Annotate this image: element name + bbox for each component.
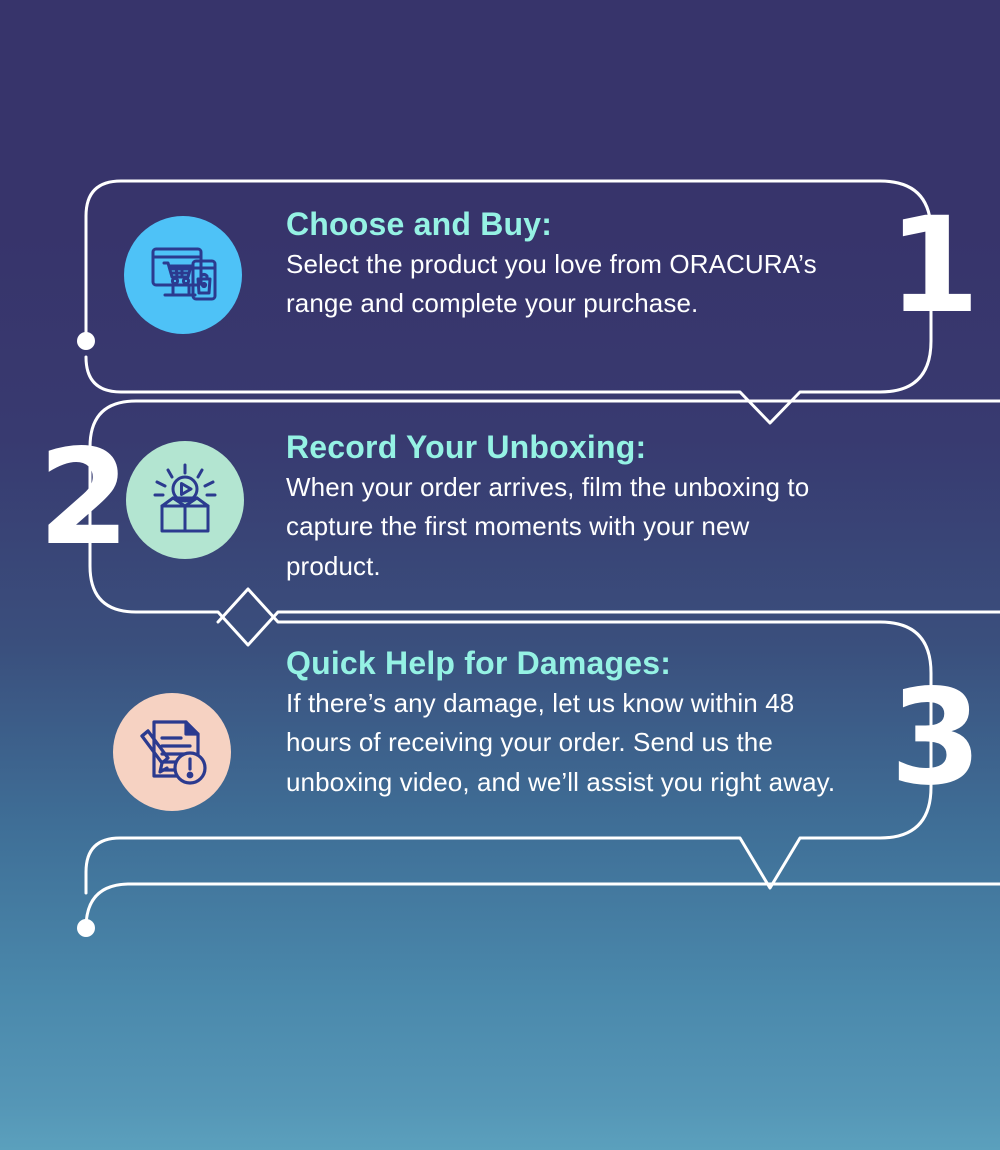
step-number-1: 1 [888, 200, 978, 332]
damage-report-icon-glyph [134, 714, 210, 790]
unboxing-video-icon-glyph [146, 461, 224, 539]
online-shopping-icon [124, 216, 242, 334]
online-shopping-icon-glyph [145, 237, 221, 313]
step-title-1: Choose and Buy: [286, 207, 846, 243]
step-number-2: 2 [38, 432, 128, 564]
step-text-3: Quick Help for Damages: If there’s any d… [286, 646, 846, 802]
unboxing-video-icon [126, 441, 244, 559]
step-body-1: Select the product you love from ORACURA… [286, 245, 846, 324]
step-body-2: When your order arrives, film the unboxi… [286, 468, 846, 587]
connector-dot-top [77, 332, 95, 350]
damage-report-icon [113, 693, 231, 811]
step-number-3: 3 [890, 672, 980, 804]
step-body-3: If there’s any damage, let us know withi… [286, 684, 846, 803]
step-text-2: Record Your Unboxing: When your order ar… [286, 430, 846, 586]
step-title-2: Record Your Unboxing: [286, 430, 846, 466]
connector-dot-bottom [77, 919, 95, 937]
step-title-3: Quick Help for Damages: [286, 646, 846, 682]
infographic-canvas: 1 2 3 Choose and Buy: Sel [0, 0, 1000, 1150]
step-text-1: Choose and Buy: Select the product you l… [286, 207, 846, 324]
connector-line-bottom [86, 884, 1000, 928]
